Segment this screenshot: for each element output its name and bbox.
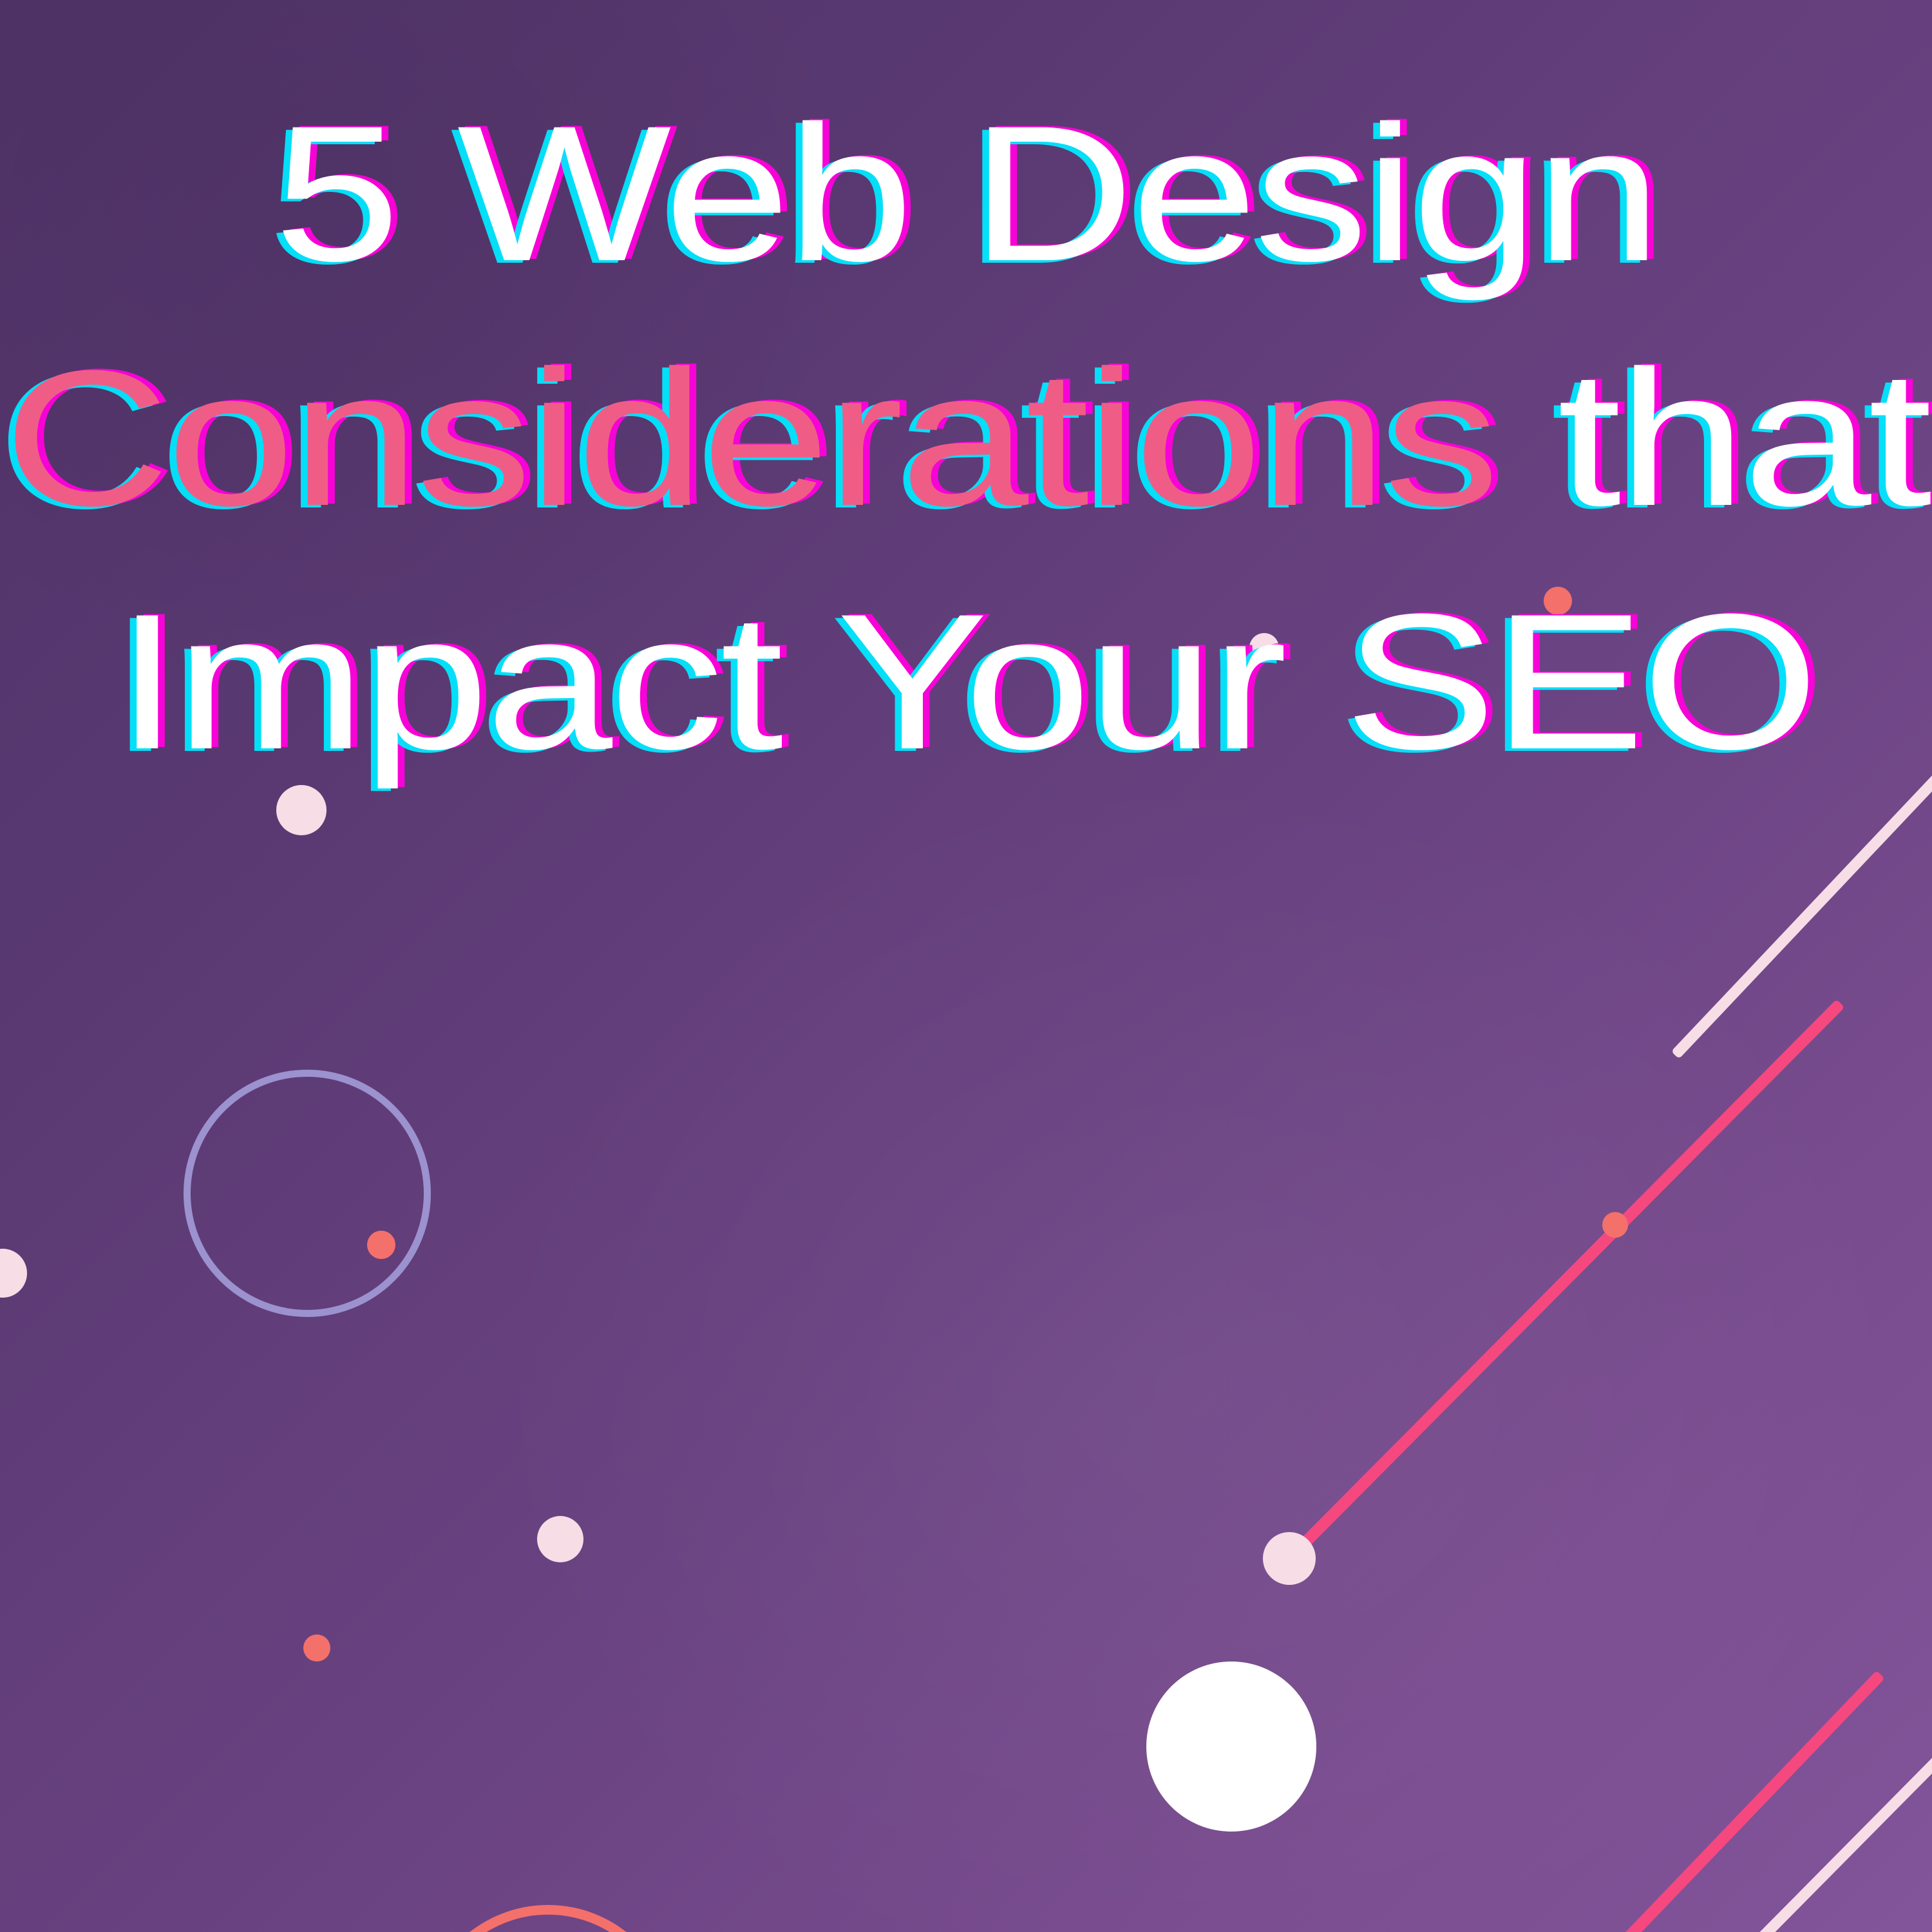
hot-pink-line-lower: [1580, 1671, 1885, 1932]
pale-dot-on-ring: [537, 1516, 583, 1562]
coral-ring: [421, 1905, 675, 1932]
title-segment-considerations: Considerations: [3, 330, 1496, 546]
title-line-3: Impact Your SEO: [0, 585, 1932, 778]
title-segment-that: that: [1557, 330, 1929, 546]
coral-dot-on-ring: [367, 1231, 395, 1259]
title-segment-space: [1496, 330, 1557, 546]
title-segment-5-web-design: 5 Web Design: [274, 85, 1658, 301]
title-segment-impact-your-seo: Impact Your SEO: [116, 573, 1816, 790]
pale-dot-impact: [276, 785, 327, 835]
pale-dot-line-end: [1263, 1532, 1316, 1585]
hot-pink-line-main: [1285, 999, 1845, 1563]
coral-dot-on-line: [1602, 1212, 1628, 1238]
poster-canvas: 5 Web Design Considerations that Impact …: [0, 0, 1932, 1932]
pale-dot-left-edge: [0, 1249, 27, 1298]
title-line-2: Considerations that: [0, 341, 1932, 535]
title-line-1: 5 Web Design: [0, 97, 1932, 290]
poster-title: 5 Web Design Considerations that Impact …: [0, 0, 1932, 778]
white-circle: [1146, 1662, 1316, 1832]
coral-dot-lower-left: [303, 1634, 330, 1662]
lavender-ring: [184, 1070, 431, 1317]
